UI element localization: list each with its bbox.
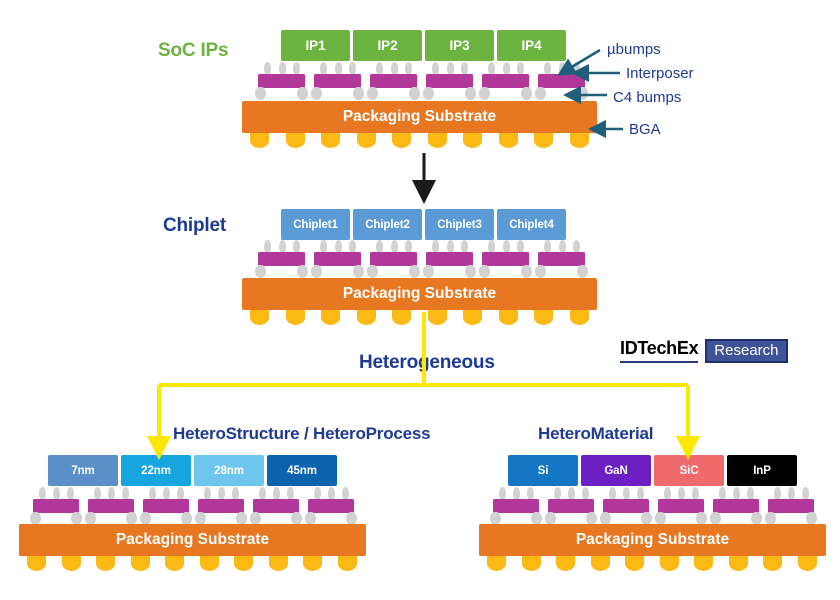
interposer-bar [198, 499, 244, 513]
interposer-bar [33, 499, 79, 513]
c4-bump-icon [367, 265, 378, 278]
soc-die-1: IP1 [281, 30, 350, 61]
interposer-bar [370, 252, 417, 266]
soc-die-label: IP1 [306, 38, 326, 53]
c4-bump-icon [353, 87, 364, 100]
hs-interposer-unit-1 [33, 487, 79, 525]
interposer-bar [493, 499, 539, 513]
callout-c4-bumps: C4 bumps [613, 89, 681, 106]
chiplet-bga-ball [321, 310, 340, 325]
c4-bump-icon [577, 87, 588, 100]
chiplet-die-1: Chiplet1 [281, 209, 350, 240]
chiplet-die-label: Chiplet1 [293, 219, 338, 231]
chiplet-packaging-substrate: Packaging Substrate [242, 278, 597, 310]
soc-bga-ball [463, 133, 482, 148]
hm-bga-ball [729, 556, 748, 571]
hs-bga-ball [234, 556, 253, 571]
section-label-chiplet: Chiplet [163, 215, 226, 237]
heteromaterial-packaging-substrate: Packaging Substrate [479, 524, 826, 556]
hm-bga-ball [591, 556, 610, 571]
c4-bump-icon [353, 265, 364, 278]
hm-interposer-unit-4 [658, 487, 704, 525]
c4-bump-icon [367, 87, 378, 100]
c4-bump-icon [465, 265, 476, 278]
chiplet-bga-ball [428, 310, 447, 325]
c4-bump-icon [423, 87, 434, 100]
callout-ubumps: µbumps [607, 41, 661, 58]
section-label-soc-ips: SoC IPs [158, 40, 228, 62]
chiplet-bga-ball [499, 310, 518, 325]
interposer-bar [308, 499, 354, 513]
soc-bga-ball [286, 133, 305, 148]
hm-bga-ball [660, 556, 679, 571]
soc-substrate-label: Packaging Substrate [343, 108, 496, 126]
hs-die-2: 22nm [121, 455, 191, 486]
c4-bump-icon [409, 265, 420, 278]
c4-bump-icon [409, 87, 420, 100]
interposer-bar [548, 499, 594, 513]
hs-bga-ball [165, 556, 184, 571]
c4-bump-icon [479, 265, 490, 278]
interposer-bar [258, 252, 305, 266]
chiplet-bga-ball [534, 310, 553, 325]
hs-die-4: 45nm [267, 455, 337, 486]
heterostructure-substrate-label: Packaging Substrate [116, 531, 269, 549]
interposer-bar [603, 499, 649, 513]
soc-packaging-substrate: Packaging Substrate [242, 101, 597, 133]
chiplet-interposer-unit-4 [426, 240, 473, 278]
diagram-canvas: SoC IPs IP1IP2IP3IP4 Packaging Substrate… [0, 0, 840, 600]
interposer-bar [482, 74, 529, 88]
section-label-heterostructure: HeteroStructure / HeteroProcess [173, 424, 430, 444]
hs-interposer-unit-4 [198, 487, 244, 525]
hm-die-3: SiC [654, 455, 724, 486]
soc-bga-ball [570, 133, 589, 148]
callout-interposer: Interposer [626, 65, 694, 82]
chiplet-interposer-unit-3 [370, 240, 417, 278]
interposer-bar [253, 499, 299, 513]
chiplet-bga-ball [463, 310, 482, 325]
hm-interposer-unit-2 [548, 487, 594, 525]
hs-die-label: 45nm [287, 465, 317, 477]
soc-bga-ball [534, 133, 553, 148]
c4-bump-icon [311, 265, 322, 278]
hm-bga-ball [487, 556, 506, 571]
hm-die-1: Si [508, 455, 578, 486]
hs-bga-ball [200, 556, 219, 571]
hm-die-label: GaN [604, 465, 627, 477]
interposer-bar [88, 499, 134, 513]
callout-bga: BGA [629, 121, 661, 138]
c4-bump-icon [311, 87, 322, 100]
hs-interposer-unit-5 [253, 487, 299, 525]
interposer-bar [538, 252, 585, 266]
interposer-bar [258, 74, 305, 88]
interposer-bar [768, 499, 814, 513]
chiplet-bga-ball [570, 310, 589, 325]
hm-die-label: Si [538, 465, 549, 477]
hs-interposer-unit-2 [88, 487, 134, 525]
chiplet-interposer-unit-2 [314, 240, 361, 278]
chiplet-die-label: Chiplet4 [509, 219, 554, 231]
hm-bga-ball [694, 556, 713, 571]
soc-die-3: IP3 [425, 30, 494, 61]
c4-bump-icon [297, 265, 308, 278]
interposer-bar [658, 499, 704, 513]
soc-bga-ball [321, 133, 340, 148]
c4-bump-icon [465, 87, 476, 100]
interposer-bar [143, 499, 189, 513]
heteromaterial-substrate-label: Packaging Substrate [576, 531, 729, 549]
hm-bga-ball [522, 556, 541, 571]
hm-interposer-unit-6 [768, 487, 814, 525]
interposer-bar [426, 74, 473, 88]
interposer-bar [370, 74, 417, 88]
c4-bump-icon [577, 265, 588, 278]
soc-bga-ball [357, 133, 376, 148]
c4-bump-icon [535, 265, 546, 278]
hs-bga-ball [27, 556, 46, 571]
heteromaterial-die-row: SiGaNSiCInP [508, 455, 797, 486]
chiplet-interposer-unit-5 [482, 240, 529, 278]
hs-interposer-unit-3 [143, 487, 189, 525]
c4-bump-icon [521, 87, 532, 100]
interposer-bar [538, 74, 585, 88]
soc-die-label: IP2 [378, 38, 398, 53]
hs-bga-ball [303, 556, 322, 571]
idtechex-logo-research-badge: Research [705, 339, 787, 363]
interposer-bar [426, 252, 473, 266]
soc-interposer-unit-3 [370, 62, 417, 100]
hm-die-4: InP [727, 455, 797, 486]
chiplet-bga-ball [357, 310, 376, 325]
hs-die-label: 7nm [71, 465, 94, 477]
soc-bga-ball [392, 133, 411, 148]
interposer-bar [482, 252, 529, 266]
soc-interposer-unit-2 [314, 62, 361, 100]
chiplet-interposer-unit-6 [538, 240, 585, 278]
section-label-heteromaterial: HeteroMaterial [538, 424, 653, 444]
soc-interposer-unit-1 [258, 62, 305, 100]
soc-bga-ball [428, 133, 447, 148]
interposer-bar [314, 252, 361, 266]
chiplet-die-label: Chiplet3 [437, 219, 482, 231]
heterostructure-die-row: 7nm22nm28nm45nm [48, 455, 337, 486]
c4-bump-icon [297, 87, 308, 100]
hs-die-label: 28nm [214, 465, 244, 477]
soc-interposer-unit-4 [426, 62, 473, 100]
soc-die-4: IP4 [497, 30, 566, 61]
c4-bump-icon [423, 265, 434, 278]
hs-bga-ball [96, 556, 115, 571]
hm-bga-ball [556, 556, 575, 571]
chiplet-bga-ball [250, 310, 269, 325]
hm-die-label: SiC [680, 465, 699, 477]
hs-bga-ball [62, 556, 81, 571]
hm-bga-ball [798, 556, 817, 571]
hs-die-3: 28nm [194, 455, 264, 486]
interposer-bar [713, 499, 759, 513]
chiplet-bga-ball [286, 310, 305, 325]
interposer-bar [314, 74, 361, 88]
c4-bump-icon [521, 265, 532, 278]
heterostructure-packaging-substrate: Packaging Substrate [19, 524, 366, 556]
hs-die-1: 7nm [48, 455, 118, 486]
c4-bump-icon [535, 87, 546, 100]
hs-bga-ball [269, 556, 288, 571]
hs-die-label: 22nm [141, 465, 171, 477]
chiplet-die-row: Chiplet1Chiplet2Chiplet3Chiplet4 [281, 209, 566, 240]
soc-bga-ball [499, 133, 518, 148]
section-label-heterogeneous: Heterogeneous [359, 352, 495, 374]
hm-bga-ball [625, 556, 644, 571]
c4-bump-icon [255, 265, 266, 278]
chiplet-die-4: Chiplet4 [497, 209, 566, 240]
hm-bga-ball [763, 556, 782, 571]
c4-bump-icon [479, 87, 490, 100]
c4-bump-icon [255, 87, 266, 100]
soc-die-2: IP2 [353, 30, 422, 61]
chiplet-substrate-label: Packaging Substrate [343, 285, 496, 303]
idtechex-logo: IDTechEx Research [620, 339, 788, 363]
soc-die-row: IP1IP2IP3IP4 [281, 30, 566, 61]
soc-interposer-unit-6 [538, 62, 585, 100]
hs-interposer-unit-6 [308, 487, 354, 525]
soc-bga-ball [250, 133, 269, 148]
chiplet-die-3: Chiplet3 [425, 209, 494, 240]
hm-interposer-unit-5 [713, 487, 759, 525]
chiplet-interposer-unit-1 [258, 240, 305, 278]
chiplet-die-2: Chiplet2 [353, 209, 422, 240]
idtechex-logo-wordmark: IDTechEx [620, 339, 698, 363]
hm-die-label: InP [753, 465, 771, 477]
chiplet-bga-ball [392, 310, 411, 325]
hs-bga-ball [338, 556, 357, 571]
hs-bga-ball [131, 556, 150, 571]
soc-interposer-unit-5 [482, 62, 529, 100]
soc-die-label: IP3 [450, 38, 470, 53]
hm-die-2: GaN [581, 455, 651, 486]
hm-interposer-unit-3 [603, 487, 649, 525]
chiplet-die-label: Chiplet2 [365, 219, 410, 231]
soc-die-label: IP4 [522, 38, 542, 53]
hm-interposer-unit-1 [493, 487, 539, 525]
